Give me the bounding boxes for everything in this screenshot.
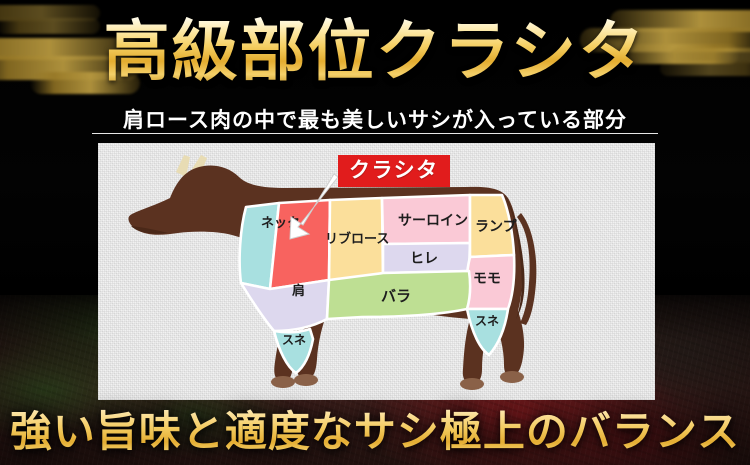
cut-region-kurashita-highlight — [270, 200, 330, 289]
product-banner: 高級部位クラシタ 肩ロース肉の中で最も美しいサシが入っている部分 — [0, 0, 750, 465]
cut-label-sirloin: サーロイン — [398, 213, 468, 229]
cut-label-rump: ランプ — [475, 219, 518, 235]
cut-label-shoulder: 肩 — [292, 283, 305, 299]
catch-copy: 強い旨味と適度なサシ極上のバランス — [0, 398, 750, 459]
cut-label-fillet: ヒレ — [410, 251, 438, 267]
subtitle-underline — [92, 133, 658, 134]
cut-label-belly: バラ — [381, 287, 411, 305]
cut-label-shank-front: スネ — [282, 333, 306, 347]
cut-label-rib-roast: リブロース — [325, 231, 389, 247]
cut-region-shoulder — [241, 280, 329, 331]
cut-label-thigh: モモ — [473, 271, 501, 287]
page-subtitle: 肩ロース肉の中で最も美しいサシが入っている部分 — [0, 104, 750, 134]
cut-label-shank-rear: スネ — [475, 314, 499, 328]
callout-badge-kurashita: クラシタ — [338, 155, 450, 187]
page-title: 高級部位クラシタ — [0, 17, 750, 87]
